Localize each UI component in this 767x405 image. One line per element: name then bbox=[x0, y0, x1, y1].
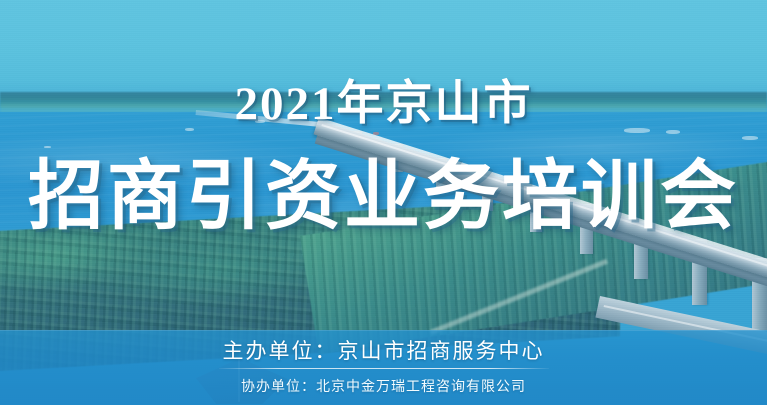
poster-year-line: 2021年京山市 bbox=[0, 78, 767, 130]
footer-banner-inner: 主办单位：京山市招商服务中心 协办单位：北京中金万瑞工程咨询有限公司 bbox=[0, 330, 767, 405]
co-organizer-line: 协办单位：北京中金万瑞工程咨询有限公司 bbox=[0, 376, 767, 396]
event-poster: 2021年京山市 招商引资业务培训会 主办单位：京山市招商服务中心 协办单位：北… bbox=[0, 0, 767, 405]
poster-main-title: 招商引资业务培训会 bbox=[0, 152, 767, 242]
poster-footer-banner: 主办单位：京山市招商服务中心 协办单位：北京中金万瑞工程咨询有限公司 bbox=[0, 330, 767, 405]
organizer-line: 主办单位：京山市招商服务中心 bbox=[0, 339, 767, 365]
footer-divider bbox=[219, 368, 549, 369]
